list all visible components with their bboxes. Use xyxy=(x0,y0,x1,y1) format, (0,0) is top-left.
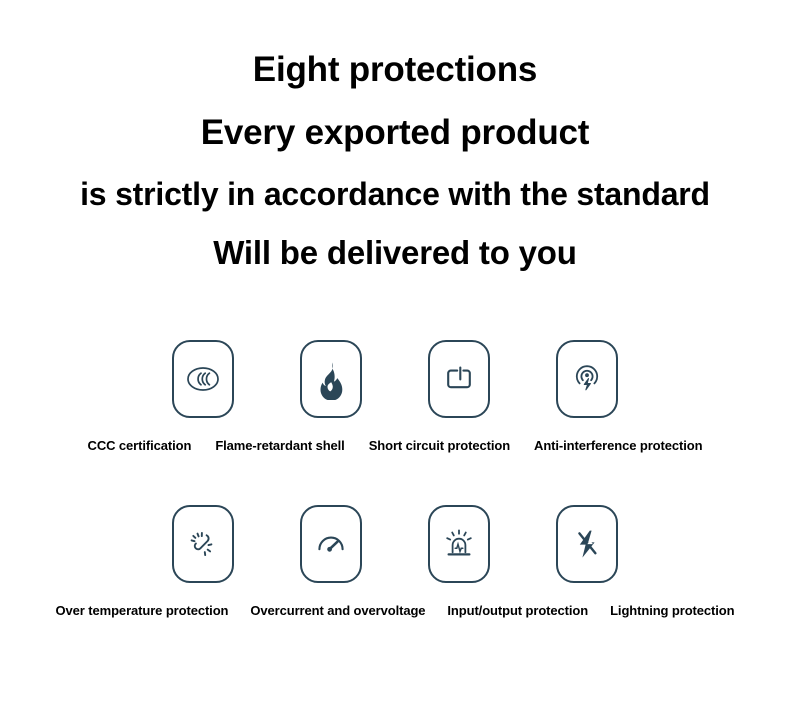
ccc-certification-icon xyxy=(182,358,224,400)
protection-label-short-circuit-protection: Short circuit protection xyxy=(369,438,510,453)
heading-line-4: Will be delivered to you xyxy=(0,236,790,269)
protection-cards-row-1 xyxy=(0,340,790,422)
protection-label-ccc-certification: CCC certification xyxy=(88,438,192,453)
heading-line-2: Every exported product xyxy=(0,115,790,150)
flame-icon xyxy=(310,358,352,400)
short-circuit-icon xyxy=(438,358,480,400)
protection-card-flame-retardant-shell xyxy=(300,340,362,418)
protection-label-input-output-protection: Input/output protection xyxy=(447,603,588,618)
protection-labels-row-2: Over temperature protection Overcurrent … xyxy=(0,603,790,618)
anti-interference-icon xyxy=(566,358,608,400)
lightning-bolt-icon xyxy=(566,523,608,565)
protection-card-lightning-protection xyxy=(556,505,618,583)
gauge-icon xyxy=(310,523,352,565)
heading-line-3: is strictly in accordance with the stand… xyxy=(0,178,790,210)
over-temperature-icon xyxy=(182,523,224,565)
protection-label-over-temperature-protection: Over temperature protection xyxy=(56,603,229,618)
headings-block: Eight protections Every exported product… xyxy=(0,0,790,269)
protection-label-anti-interference-protection: Anti-interference protection xyxy=(534,438,702,453)
protections-infographic: Eight protections Every exported product… xyxy=(0,0,790,715)
protection-card-short-circuit-protection xyxy=(428,340,490,418)
protection-card-overcurrent-and-overvoltage xyxy=(300,505,362,583)
protection-card-over-temperature-protection xyxy=(172,505,234,583)
protection-card-ccc-certification xyxy=(172,340,234,418)
siren-icon xyxy=(438,523,480,565)
protection-labels-row-1: CCC certification Flame-retardant shell … xyxy=(0,438,790,453)
protection-cards-row-2 xyxy=(0,505,790,587)
protection-label-flame-retardant-shell: Flame-retardant shell xyxy=(215,438,344,453)
protection-row-2: Over temperature protection Overcurrent … xyxy=(0,505,790,618)
protection-label-lightning-protection: Lightning protection xyxy=(610,603,734,618)
protection-card-anti-interference-protection xyxy=(556,340,618,418)
protection-label-overcurrent-and-overvoltage: Overcurrent and overvoltage xyxy=(250,603,425,618)
page-title: Eight protections xyxy=(0,52,790,87)
protection-card-input-output-protection xyxy=(428,505,490,583)
protection-row-1: CCC certification Flame-retardant shell … xyxy=(0,340,790,453)
